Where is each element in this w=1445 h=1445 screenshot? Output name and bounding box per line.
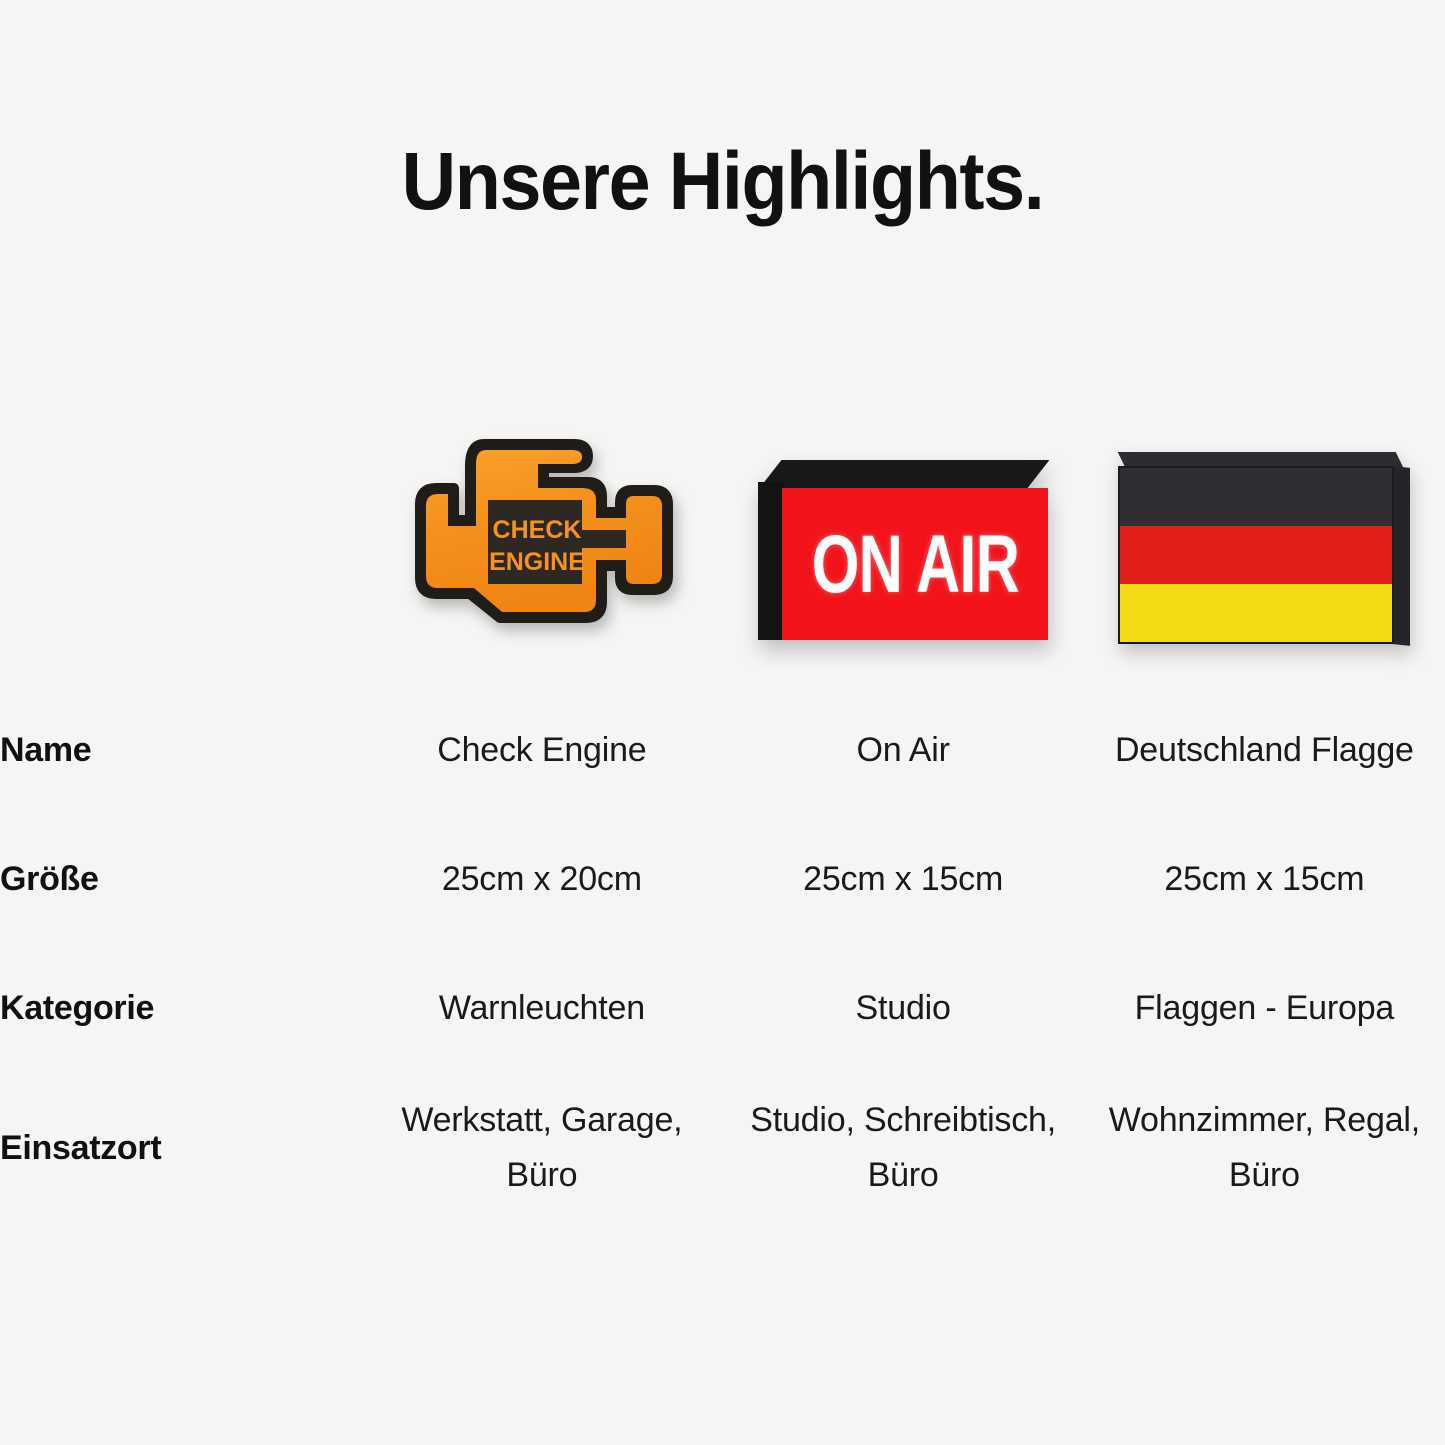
cell-name-on-air: On Air [723,686,1084,815]
cell-category-check-engine: Warnleuchten [361,944,722,1073]
cell-location-deutschland-flagge: Wohnzimmer, Regal, Büro [1084,1073,1445,1223]
table-row-size: Größe 25cm x 20cm 25cm x 15cm 25cm x 15c… [0,815,1445,944]
product-image-row: CHECK ENGINE ON AIR [0,400,1445,660]
flag-front-face [1118,466,1394,644]
image-row-label-spacer [0,400,361,660]
table-row-category: Kategorie Warnleuchten Studio Flaggen - … [0,944,1445,1073]
on-air-top-face [758,460,1049,490]
specification-table: Name Check Engine On Air Deutschland Fla… [0,686,1445,1223]
flag-band-black [1120,468,1392,526]
row-label-category: Kategorie [0,944,361,1073]
flag-band-gold [1120,584,1392,642]
highlights-page: Unsere Highlights. [0,0,1445,1445]
check-engine-line2: ENGINE [489,548,585,576]
cell-name-deutschland-flagge: Deutschland Flagge [1084,686,1445,815]
check-engine-lamp-icon: CHECK ENGINE [392,426,692,652]
cell-size-check-engine: 25cm x 20cm [361,815,722,944]
cell-category-on-air: Studio [723,944,1084,1073]
check-engine-line1: CHECK [492,516,581,544]
cell-category-deutschland-flagge: Flaggen - Europa [1084,944,1445,1073]
page-title: Unsere Highlights. [58,135,1387,229]
on-air-side-face [758,482,784,640]
flag-side-face [1392,466,1410,646]
flag-band-red [1120,526,1392,584]
on-air-lightbox-icon: ON AIR [758,460,1048,646]
table-row-name: Name Check Engine On Air Deutschland Fla… [0,686,1445,815]
cell-name-check-engine: Check Engine [361,686,722,815]
cell-size-on-air: 25cm x 15cm [723,815,1084,944]
product-image-on-air[interactable]: ON AIR [723,400,1084,660]
row-label-name: Name [0,686,361,815]
table-row-location: Einsatzort Werkstatt, Garage, Büro Studi… [0,1073,1445,1223]
row-label-location: Einsatzort [0,1073,361,1223]
product-image-deutschland-flagge[interactable] [1084,400,1445,660]
german-flag-lightbox-icon [1118,452,1410,648]
cell-location-check-engine: Werkstatt, Garage, Büro [361,1073,722,1223]
cell-location-on-air: Studio, Schreibtisch, Büro [723,1073,1084,1223]
on-air-text: ON AIR [811,518,1018,611]
on-air-front-face: ON AIR [782,488,1048,640]
cell-size-deutschland-flagge: 25cm x 15cm [1084,815,1445,944]
product-image-check-engine[interactable]: CHECK ENGINE [361,400,722,660]
row-label-size: Größe [0,815,361,944]
